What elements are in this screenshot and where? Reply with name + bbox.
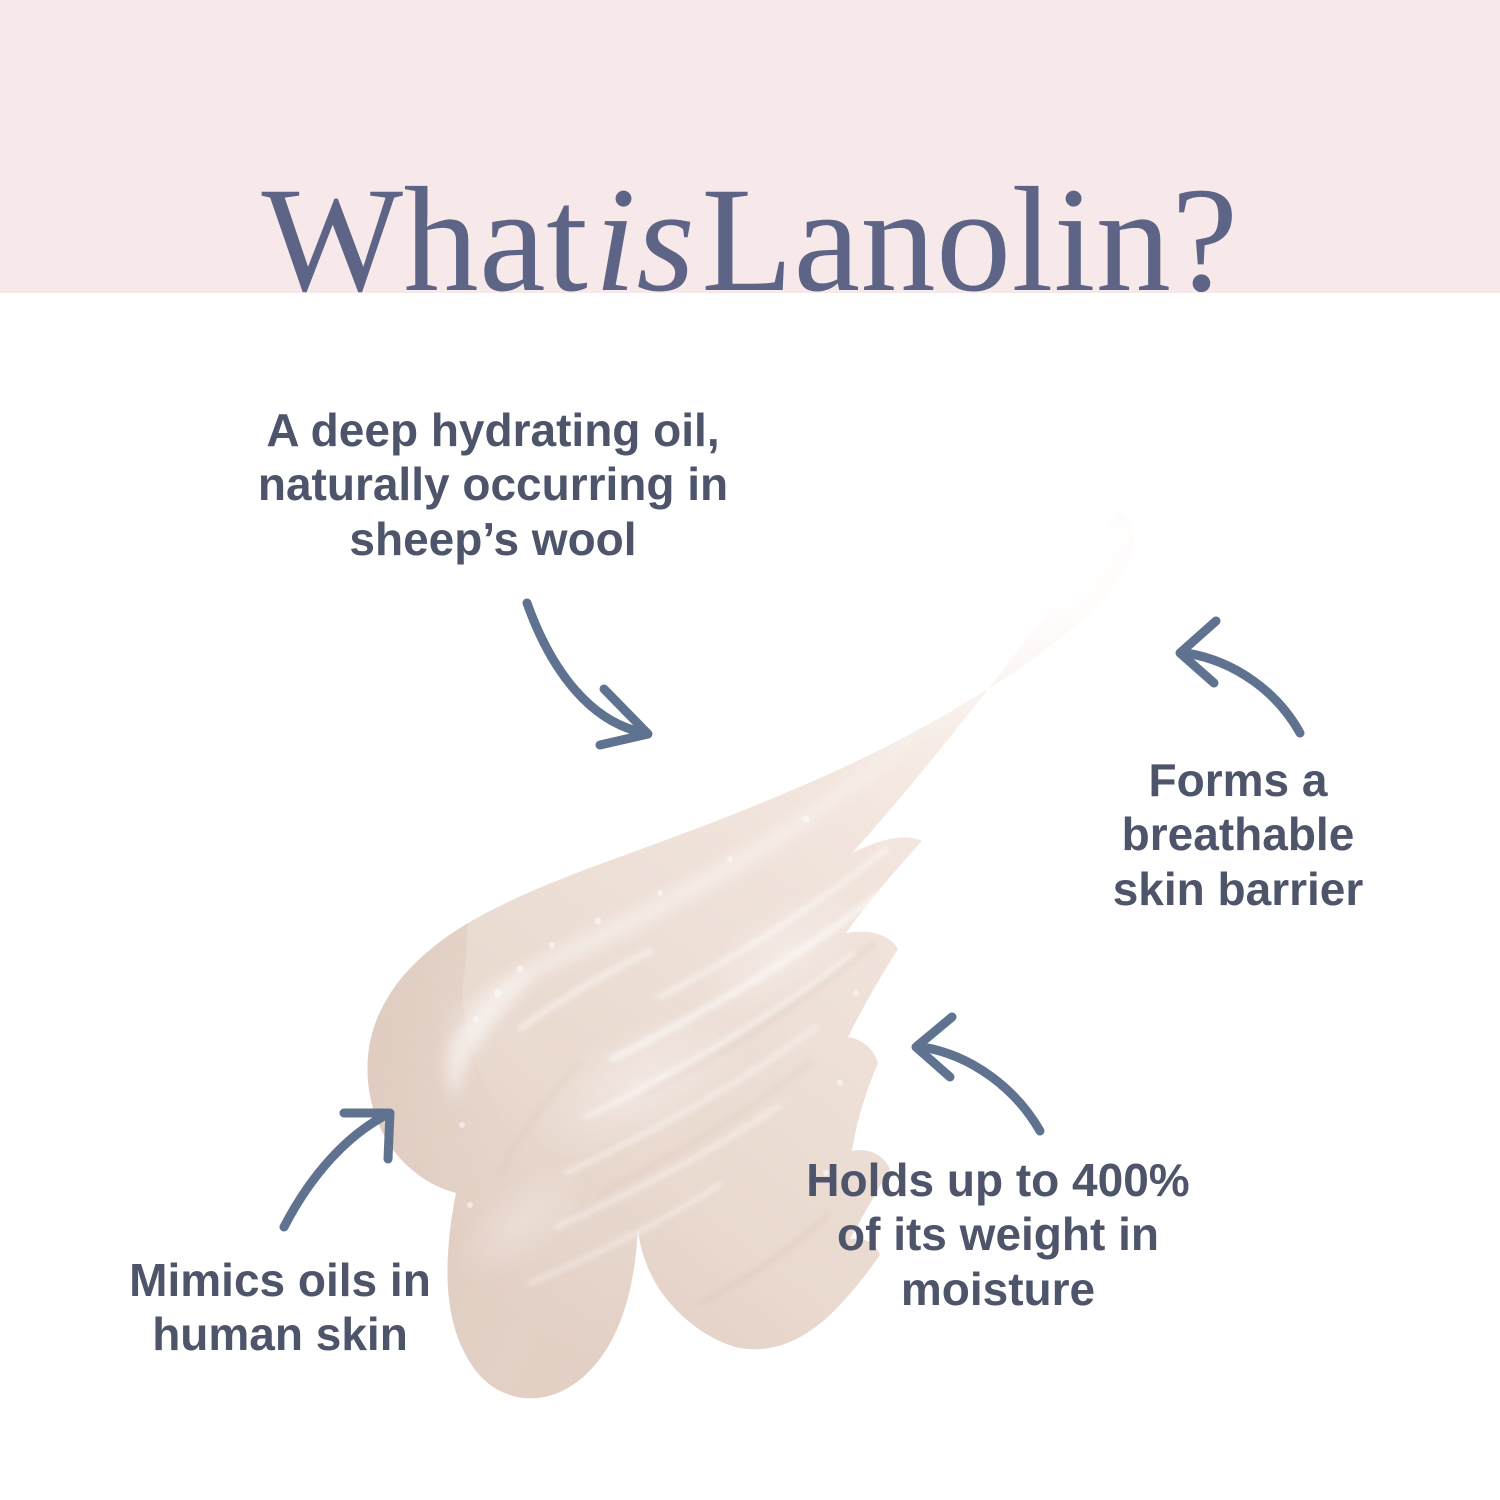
- arrow-icon-hydrating-oil: [527, 603, 648, 745]
- arrow-icon-breathable-barrier: [1180, 621, 1300, 733]
- annotation-holds-moisture: Holds up to 400% of its weight in moistu…: [718, 1153, 1278, 1316]
- arrow-icon-holds-moisture: [916, 1017, 1040, 1131]
- annotation-breathable-barrier: Forms a breathable skin barrier: [1058, 753, 1418, 916]
- annotation-mimics-skin-oils: Mimics oils in human skin: [60, 1253, 500, 1362]
- arrow-icon-mimics-skin-oils: [284, 1113, 390, 1227]
- lanolin-infographic: WhatisLanolin?: [0, 0, 1500, 1500]
- artwork-stage: A deep hydrating oil, naturally occurrin…: [0, 293, 1500, 1500]
- annotation-hydrating-oil: A deep hydrating oil, naturally occurrin…: [168, 403, 818, 566]
